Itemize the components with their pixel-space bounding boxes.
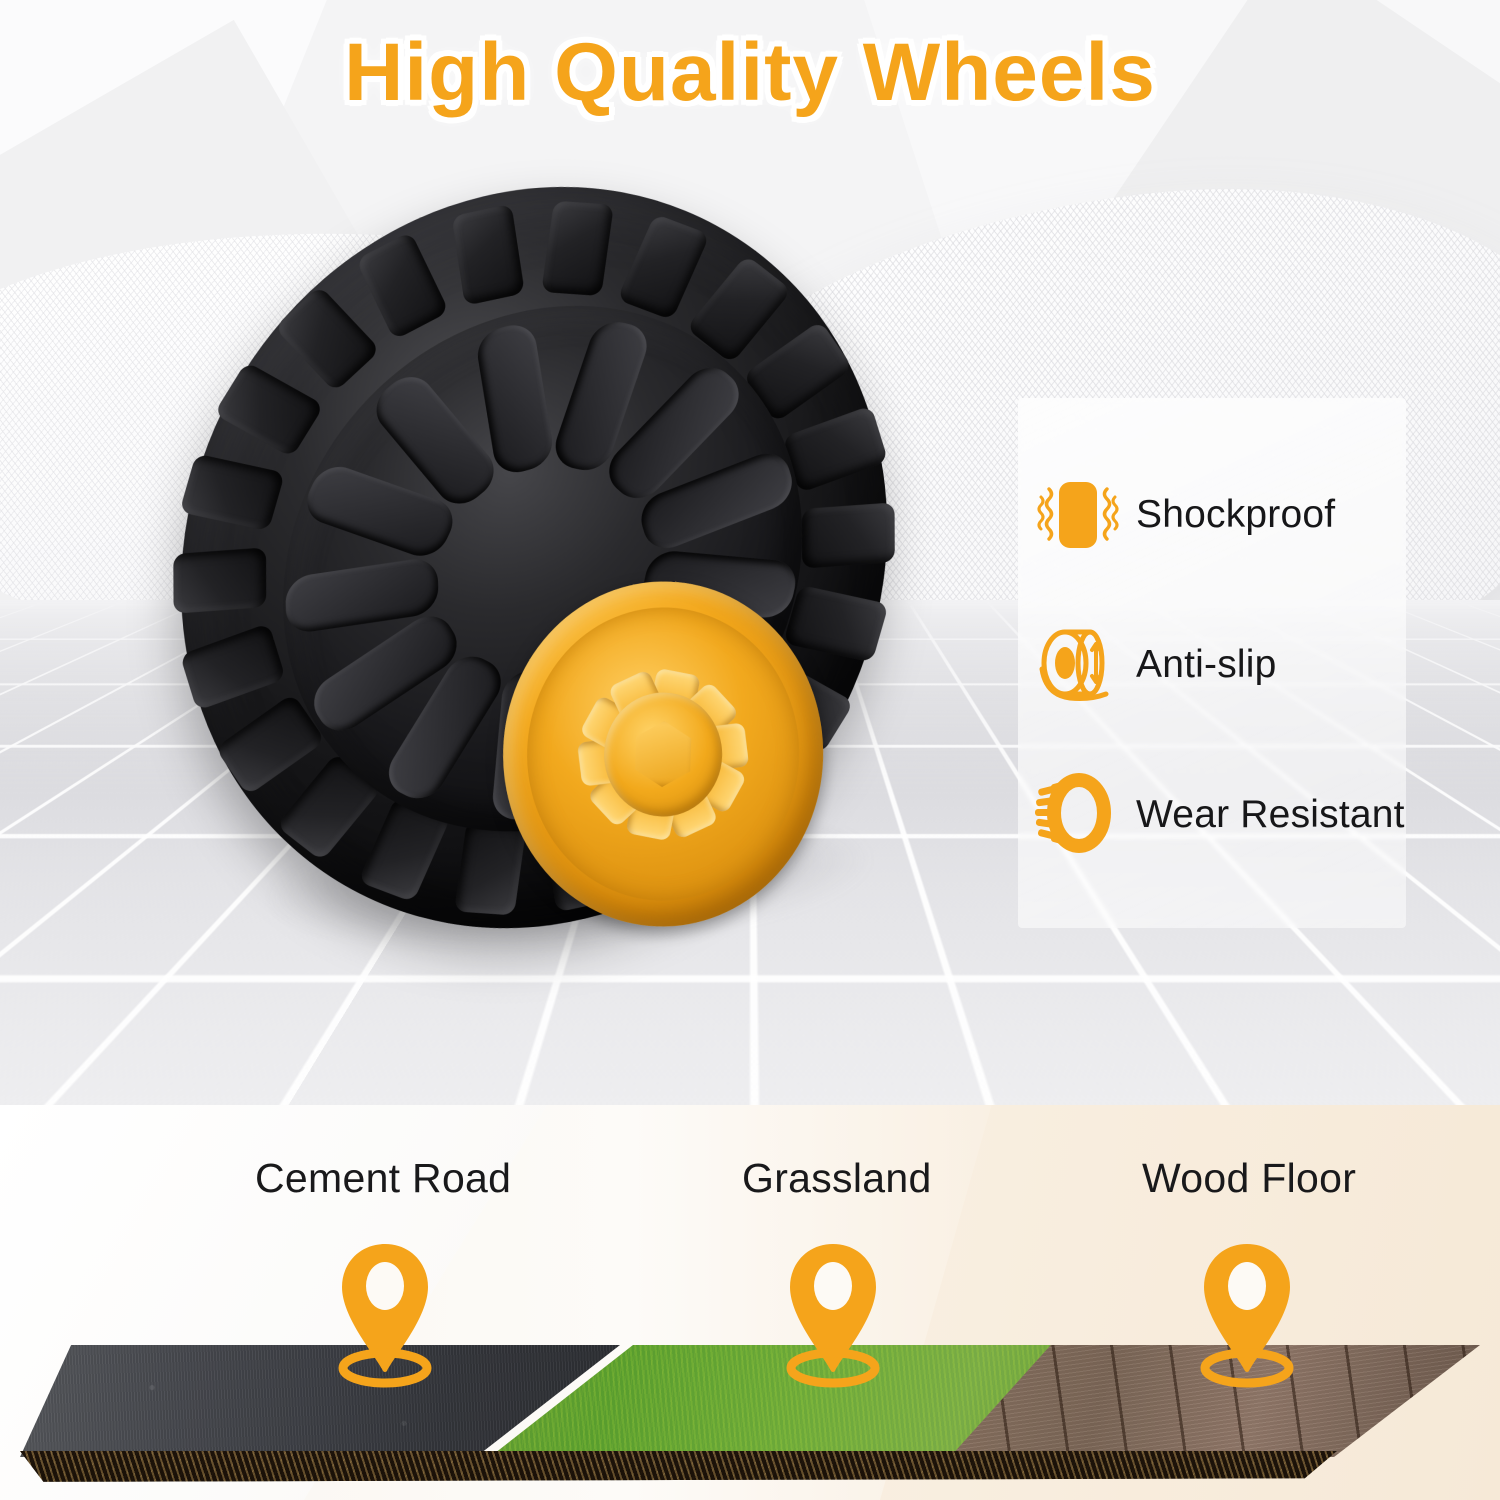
hub-bolt bbox=[631, 710, 646, 725]
feature-list: Shockproof Anti-slip bbox=[1032, 440, 1500, 890]
tire-tread-lug bbox=[802, 502, 895, 568]
hub-bolt bbox=[615, 732, 629, 746]
hub-bolt bbox=[699, 735, 713, 749]
tire-tread-lug bbox=[454, 819, 527, 915]
hub-bolt bbox=[659, 704, 670, 715]
hub-bolt bbox=[683, 712, 698, 727]
feature-label: Anti-slip bbox=[1136, 643, 1277, 687]
feature-label: Wear Resistant bbox=[1136, 793, 1405, 837]
map-pin-icon-wood-floor bbox=[1192, 1238, 1302, 1398]
tire-tread-lug bbox=[782, 405, 888, 493]
feature-item-wear-resistant: Wear Resistant bbox=[1032, 740, 1500, 890]
tire-tread-lug bbox=[179, 453, 285, 531]
tire-tread-lug bbox=[214, 361, 325, 457]
hub-bolt bbox=[680, 783, 695, 798]
anti-slip-tire-rotation-icon bbox=[1032, 619, 1124, 711]
map-pin-icon-cement-road bbox=[330, 1238, 440, 1398]
product-marketing-image: High Quality Wheels Shockproof bbox=[0, 0, 1500, 1500]
top-scene: High Quality Wheels Shockproof bbox=[0, 0, 1500, 1105]
tire-tread-lug bbox=[541, 200, 614, 296]
hub-hex-nut bbox=[630, 720, 696, 788]
hub-dish bbox=[522, 603, 804, 905]
tire-tread-lug bbox=[274, 285, 380, 392]
surface-label-wood-floor: Wood Floor bbox=[1142, 1155, 1356, 1202]
feature-item-anti-slip: Anti-slip bbox=[1032, 590, 1500, 740]
hub-bolt bbox=[697, 762, 711, 776]
tire-tread-lug bbox=[180, 622, 286, 710]
tire-tread-lug bbox=[783, 584, 889, 662]
feature-item-shockproof: Shockproof bbox=[1032, 440, 1500, 590]
surface-labels: Cement Road Grassland Wood Floor bbox=[0, 1155, 1500, 1215]
tire-tread-lug bbox=[452, 203, 525, 305]
shockproof-vibration-icon bbox=[1032, 469, 1124, 561]
surface-label-cement-road: Cement Road bbox=[255, 1155, 511, 1202]
feature-label: Shockproof bbox=[1136, 493, 1335, 537]
map-pin-icon-grassland bbox=[778, 1238, 888, 1398]
wheel-product-image bbox=[148, 151, 921, 989]
tire-tread-lug bbox=[173, 547, 266, 613]
wear-resistant-tire-tread-icon bbox=[1032, 769, 1124, 861]
tire-tread-lug bbox=[617, 213, 710, 320]
hub-bolt bbox=[614, 759, 628, 773]
hub-bolt bbox=[656, 792, 667, 803]
surface-label-grassland: Grassland bbox=[742, 1155, 932, 1202]
tire-tread-lug bbox=[356, 231, 450, 340]
hub-bolt bbox=[628, 781, 643, 796]
slab-soil-edge bbox=[20, 1451, 1480, 1495]
page-title: High Quality Wheels bbox=[0, 26, 1500, 120]
